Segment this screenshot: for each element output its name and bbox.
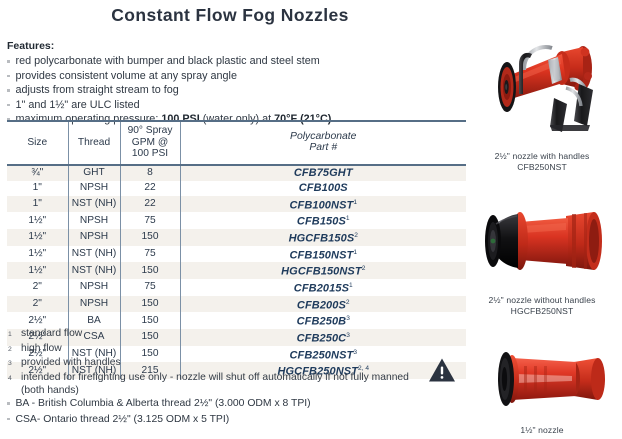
thread-note-item: CSA- Ontario thread 2½" (3.125 ODM x 5 T…: [7, 412, 437, 428]
cell-size: 2": [7, 279, 68, 296]
feature-item: adjusts from straight stream to fog: [7, 83, 457, 98]
column-header-gpm: 90° Spray GPM @ 100 PSI: [120, 121, 180, 165]
nozzle-without-handles-image: [462, 196, 622, 293]
column-header-thread: Thread: [68, 121, 120, 165]
figure-caption-line1: 1½" nozzle: [462, 425, 622, 436]
figure-nozzle-small: 1½" nozzle: [462, 338, 622, 436]
footnote-text: provided with handles: [21, 356, 427, 370]
cell-thread: NST (NH): [68, 246, 120, 263]
cell-size: 2": [7, 296, 68, 313]
part-number-footnote-ref: 2: [362, 265, 366, 272]
footnote-text: standard flow: [21, 327, 427, 341]
figure-caption-line2: HGCFB250NST: [462, 306, 622, 317]
nozzle-small-image: [462, 338, 622, 423]
cell-part-number: CFB150NST1: [180, 246, 466, 263]
square-bullet-icon: [7, 104, 10, 107]
part-header-line1: Polycarbonate: [290, 131, 356, 142]
square-bullet-icon: [7, 60, 10, 63]
table-header: Size Thread 90° Spray GPM @ 100 PSI Poly…: [7, 121, 466, 165]
warning-triangle-icon: [428, 357, 456, 383]
table-row: 1"NST (NH)22CFB100NST1: [7, 196, 466, 213]
features-section: Features: red polycarbonate with bumper …: [7, 40, 457, 127]
column-header-part: Polycarbonate Part #: [180, 121, 466, 165]
cell-size: 1½": [7, 212, 68, 229]
part-number-text: CFB200S: [297, 299, 346, 311]
cell-gpm: 150: [120, 262, 180, 279]
part-number-footnote-ref: 3: [346, 315, 350, 322]
part-number-footnote-ref: 1: [353, 199, 357, 206]
footnote-text: intended for firefighting use only - noz…: [21, 371, 427, 398]
part-number-footnote-ref: 1: [346, 215, 350, 222]
cell-gpm: 8: [120, 165, 180, 181]
part-number-text: CFB75GHT: [294, 167, 353, 179]
square-bullet-icon: [7, 89, 10, 92]
cell-part-number: CFB2015S1: [180, 279, 466, 296]
table-row: 1½"NPSH75CFB150S1: [7, 212, 466, 229]
part-number-text: HGCFB150S: [289, 233, 355, 245]
nozzle-with-handles-image: [462, 32, 622, 149]
footnote-item: 1standard flow: [7, 327, 427, 342]
cell-part-number: HGCFB150NST2: [180, 262, 466, 279]
part-number-footnote-ref: 2: [346, 299, 350, 306]
table-row: 1½"NST (NH)150HGCFB150NST2: [7, 262, 466, 279]
cell-thread: GHT: [68, 165, 120, 181]
cell-size: 1½": [7, 246, 68, 263]
figure-caption: 2½" nozzle with handles CFB250NST: [462, 151, 622, 172]
column-header-size: Size: [7, 121, 68, 165]
table-row: 2"NPSH75CFB2015S1: [7, 279, 466, 296]
cell-thread: NPSH: [68, 212, 120, 229]
table-row: 2"NPSH150CFB200S2: [7, 296, 466, 313]
cell-thread: NST (NH): [68, 262, 120, 279]
cell-part-number: HGCFB150S2: [180, 229, 466, 246]
cell-part-number: CFB150S1: [180, 212, 466, 229]
cell-size: 1": [7, 196, 68, 213]
feature-item: 1" and 1½" are ULC listed: [7, 98, 457, 113]
part-number-text: CFB150S: [297, 216, 346, 228]
footnotes-section: 1standard flow2high flow3provided with h…: [7, 327, 427, 398]
footnote-marker: 1: [7, 327, 21, 342]
part-header-line2: Part #: [309, 142, 337, 153]
cell-part-number: CFB75GHT: [180, 165, 466, 181]
cell-part-number: CFB100S: [180, 181, 466, 196]
cell-part-number: CFB200S2: [180, 296, 466, 313]
footnote-item: 3provided with handles: [7, 356, 427, 371]
figure-caption-line2: CFB250NST: [462, 162, 622, 173]
thread-note-text: CSA- Ontario thread 2½" (3.125 ODM x 5 T…: [16, 412, 230, 428]
cell-thread: NPSH: [68, 279, 120, 296]
thread-note-item: BA - British Columbia & Alberta thread 2…: [7, 396, 437, 412]
page-title: Constant Flow Fog Nozzles: [0, 5, 460, 26]
cell-thread: NPSH: [68, 181, 120, 196]
cell-part-number: CFB100NST1: [180, 196, 466, 213]
figure-caption: 1½" nozzle: [462, 425, 622, 436]
feature-item-label: 1" and 1½" are ULC listed: [16, 98, 140, 113]
figure-caption-line1: 2½" nozzle without handles: [462, 295, 622, 306]
part-number-text: CFB100NST: [289, 199, 353, 211]
cell-gpm: 150: [120, 229, 180, 246]
cell-gpm: 75: [120, 246, 180, 263]
part-number-text: CFB150NST: [289, 249, 353, 261]
thread-notes-section: BA - British Columbia & Alberta thread 2…: [7, 396, 437, 427]
features-list: red polycarbonate with bumper and black …: [7, 54, 457, 127]
part-number-footnote-ref: 2: [354, 232, 358, 239]
part-number-text: CFB2015S: [294, 283, 349, 295]
footnote-marker: 3: [7, 356, 21, 371]
cell-thread: NPSH: [68, 296, 120, 313]
feature-item: red polycarbonate with bumper and black …: [7, 54, 457, 69]
cell-size: 1": [7, 181, 68, 196]
gpm-header-line3: 100 PSI: [132, 148, 168, 159]
part-number-footnote-ref: 1: [353, 249, 357, 256]
cell-thread: NST (NH): [68, 196, 120, 213]
square-bullet-icon: [7, 75, 10, 78]
thread-note-text: BA - British Columbia & Alberta thread 2…: [16, 396, 311, 412]
feature-item-label: red polycarbonate with bumper and black …: [16, 54, 320, 69]
cell-gpm: 75: [120, 279, 180, 296]
footnote-item: 2high flow: [7, 342, 427, 357]
cell-size: 1½": [7, 229, 68, 246]
cell-size: 1½": [7, 262, 68, 279]
cell-size: ¾": [7, 165, 68, 181]
part-number-footnote-ref: 1: [349, 282, 353, 289]
cell-gpm: 75: [120, 212, 180, 229]
square-bullet-icon: [7, 418, 10, 421]
gpm-header-line2: GPM @: [132, 137, 168, 148]
feature-item-label: provides consistent volume at any spray …: [16, 69, 237, 84]
figure-nozzle-with-handles: 2½" nozzle with handles CFB250NST: [462, 32, 622, 172]
features-heading: Features:: [7, 40, 457, 52]
feature-item: provides consistent volume at any spray …: [7, 69, 457, 84]
gpm-header-line1: 90° Spray: [128, 125, 173, 136]
cell-gpm: 150: [120, 296, 180, 313]
table-row: 1½"NPSH150HGCFB150S2: [7, 229, 466, 246]
part-number-text: CFB100S: [299, 182, 348, 194]
table-row: ¾"GHT8CFB75GHT: [7, 165, 466, 181]
figure-caption: 2½" nozzle without handles HGCFB250NST: [462, 295, 622, 316]
footnote-marker: 2: [7, 342, 21, 357]
table-row: 1"NPSH22CFB100S: [7, 181, 466, 196]
table-row: 1½"NST (NH)75CFB150NST1: [7, 246, 466, 263]
feature-item-label: adjusts from straight stream to fog: [16, 83, 179, 98]
footnote-marker: 4: [7, 371, 21, 386]
figure-nozzle-without-handles: 2½" nozzle without handles HGCFB250NST: [462, 196, 622, 316]
footnote-item: 4intended for firefighting use only - no…: [7, 371, 427, 398]
part-number-text: HGCFB150NST: [281, 266, 362, 278]
cell-gpm: 22: [120, 181, 180, 196]
footnote-text: high flow: [21, 342, 427, 356]
square-bullet-icon: [7, 402, 10, 405]
figure-caption-line1: 2½" nozzle with handles: [462, 151, 622, 162]
cell-thread: NPSH: [68, 229, 120, 246]
cell-gpm: 22: [120, 196, 180, 213]
